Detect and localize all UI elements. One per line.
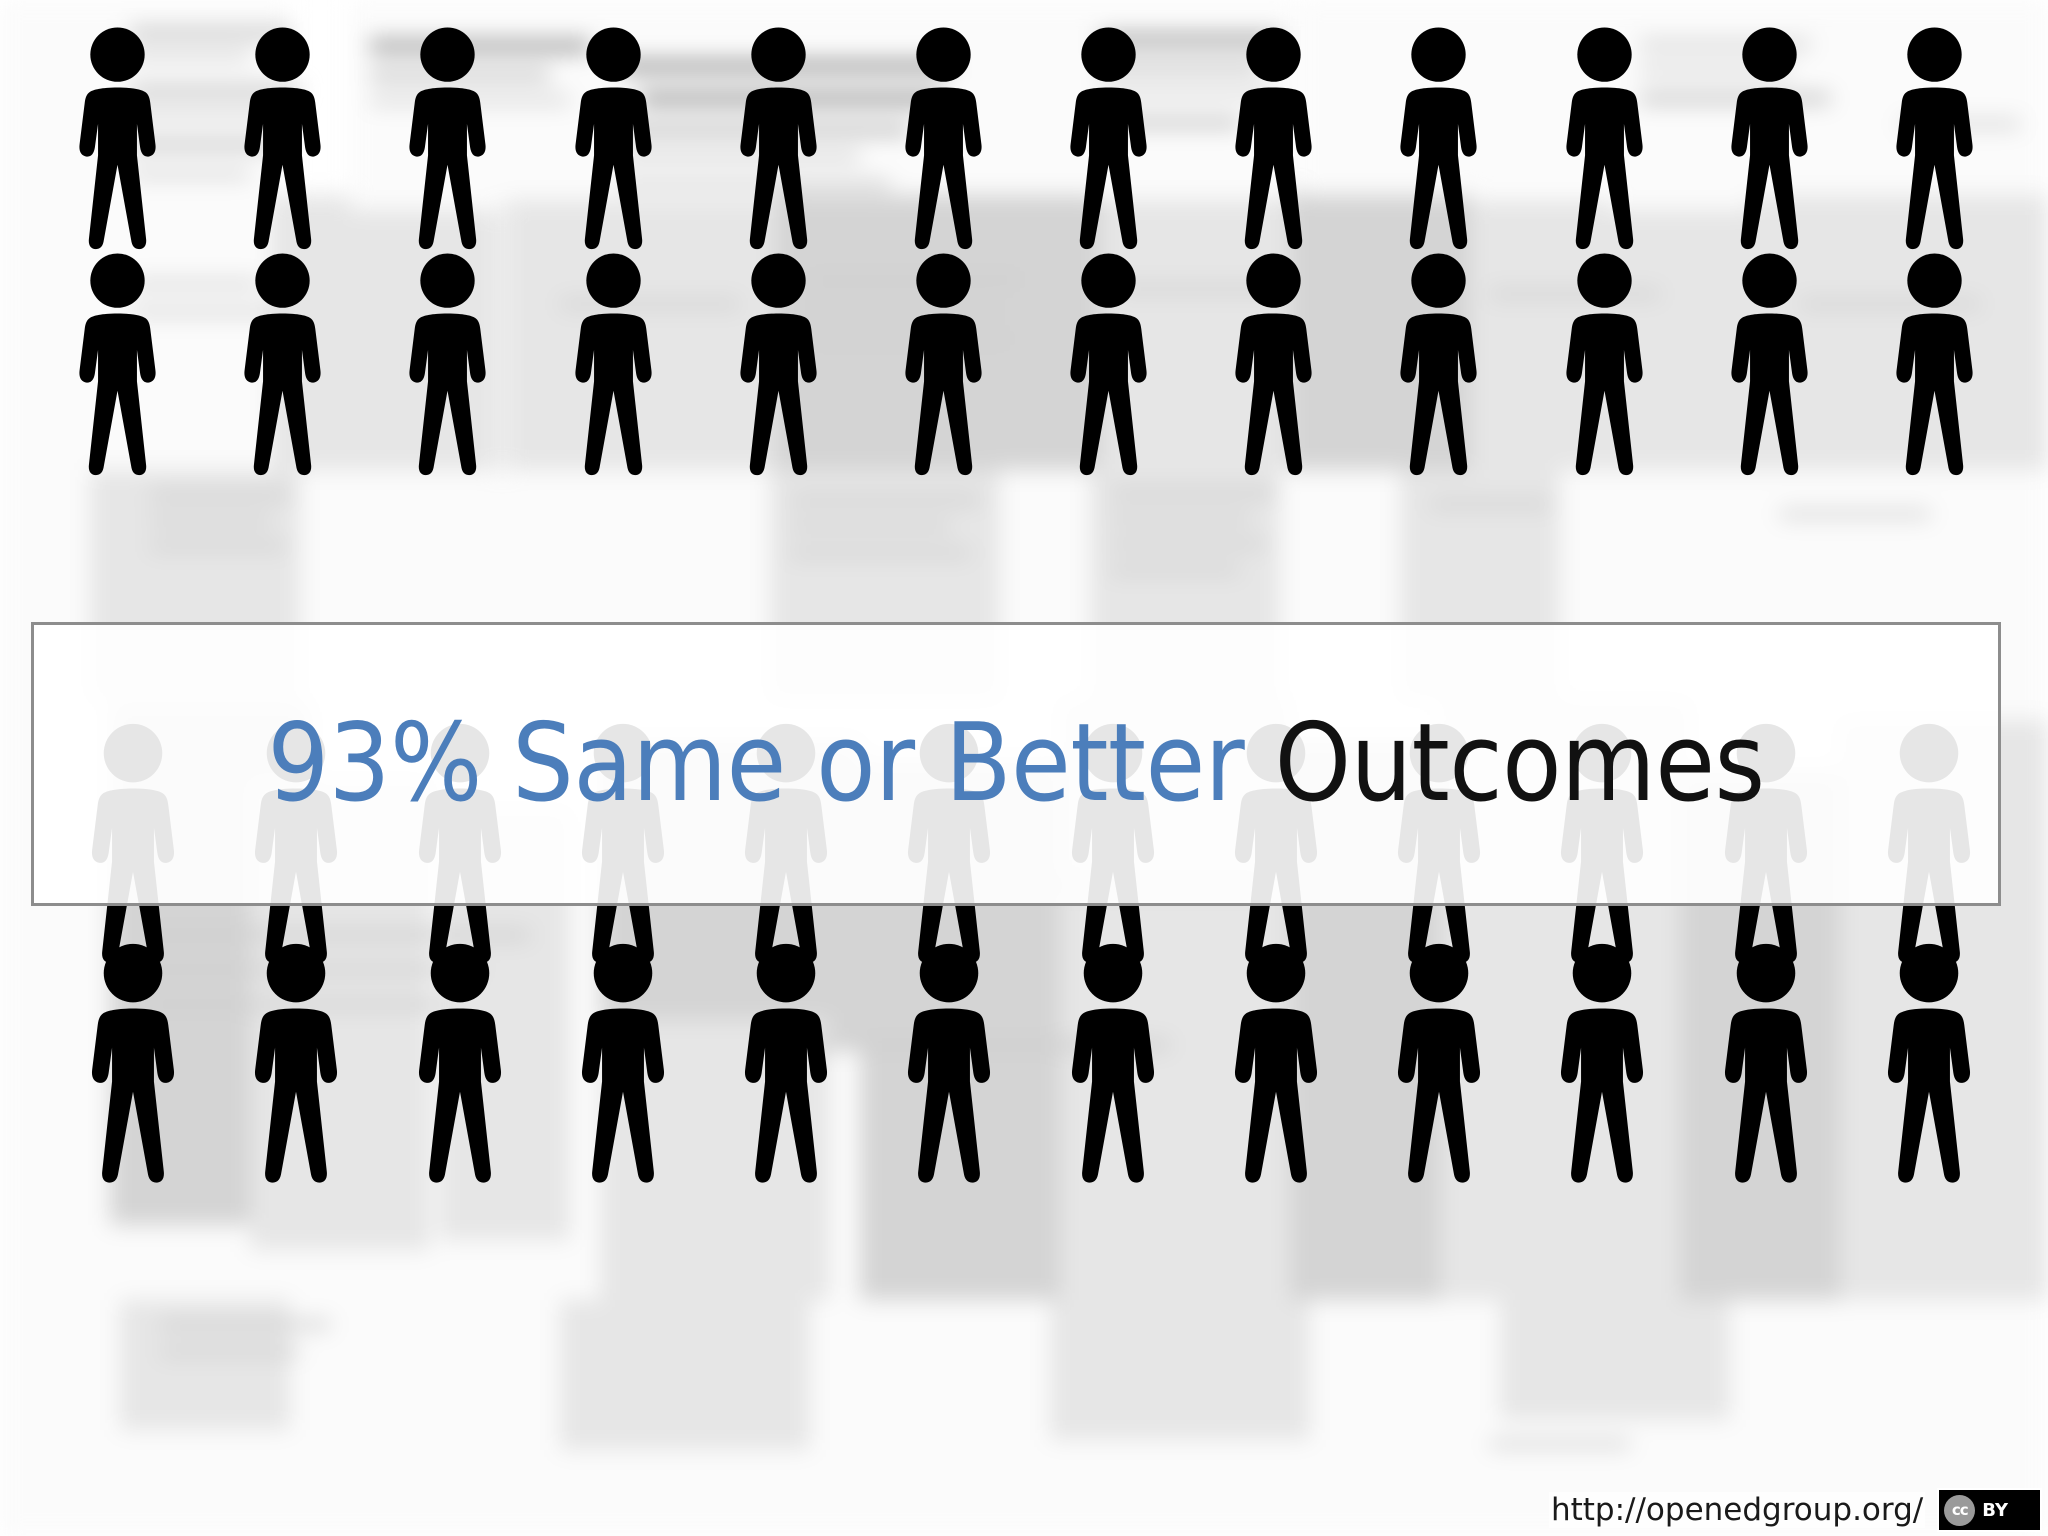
person-standing-icon xyxy=(707,24,850,254)
person-standing-icon xyxy=(46,24,189,254)
creative-commons-icon: cc xyxy=(1944,1495,1975,1526)
person-standing-icon xyxy=(546,940,700,1188)
source-url-link[interactable]: http://openedgroup.org/ xyxy=(1549,1492,1925,1528)
headline-highlight: 93% Same or Better xyxy=(267,701,1244,826)
person-standing-icon xyxy=(211,24,354,254)
slide-canvas: 93% Same or Better Outcomes http://opene… xyxy=(0,0,2048,1536)
person-standing-icon xyxy=(1533,24,1676,254)
person-standing-icon xyxy=(872,24,1015,254)
creative-commons-by-badge[interactable]: cc BY xyxy=(1939,1490,2040,1530)
person-standing-icon xyxy=(707,250,850,480)
person-standing-icon xyxy=(1698,250,1841,480)
person-standing-icon xyxy=(1852,940,2006,1188)
pictogram-row-4 xyxy=(56,938,2006,1188)
person-standing-icon xyxy=(211,250,354,480)
person-standing-icon xyxy=(383,940,537,1188)
pictogram-row-1 xyxy=(46,22,2006,254)
person-standing-icon xyxy=(1698,24,1841,254)
person-standing-icon xyxy=(1689,940,1843,1188)
person-standing-icon xyxy=(1525,940,1679,1188)
person-standing-icon xyxy=(1202,24,1345,254)
person-standing-icon xyxy=(1533,250,1676,480)
footer: http://openedgroup.org/ cc BY xyxy=(1549,1490,2040,1530)
person-standing-icon xyxy=(1037,24,1180,254)
person-standing-icon xyxy=(1037,250,1180,480)
headline-banner: 93% Same or Better Outcomes xyxy=(31,622,2001,906)
person-standing-icon xyxy=(709,940,863,1188)
person-standing-icon xyxy=(542,24,685,254)
person-standing-icon xyxy=(1362,940,1516,1188)
headline-plain: Outcomes xyxy=(1244,701,1764,826)
pictogram-row-2 xyxy=(46,248,2006,480)
page-title: 93% Same or Better Outcomes xyxy=(267,710,1764,818)
person-standing-icon xyxy=(872,940,1026,1188)
person-standing-icon xyxy=(872,250,1015,480)
person-standing-icon xyxy=(56,940,210,1188)
person-standing-icon xyxy=(1199,940,1353,1188)
person-standing-icon xyxy=(1863,24,2006,254)
person-standing-icon xyxy=(1036,940,1190,1188)
person-standing-icon xyxy=(219,940,373,1188)
person-standing-icon xyxy=(1367,250,1510,480)
person-standing-icon xyxy=(376,250,519,480)
person-standing-icon xyxy=(376,24,519,254)
person-standing-icon xyxy=(1367,24,1510,254)
person-standing-icon xyxy=(1202,250,1345,480)
person-standing-icon xyxy=(542,250,685,480)
person-standing-icon xyxy=(46,250,189,480)
person-standing-icon xyxy=(1863,250,2006,480)
license-terms-label: BY xyxy=(1982,1500,2034,1521)
